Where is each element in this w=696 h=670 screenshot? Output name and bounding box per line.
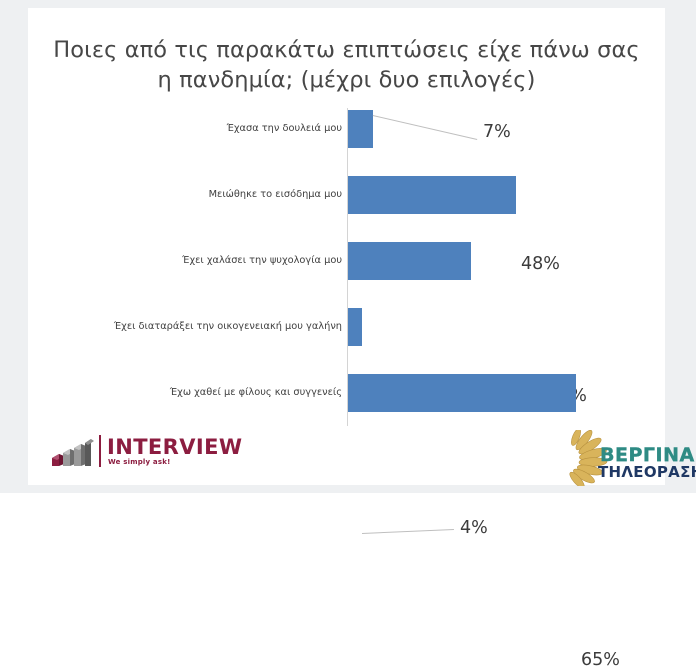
bar-row: Έχει χαλάσει την ψυχολογία μου35%: [28, 240, 665, 306]
logo-divider: [99, 435, 101, 467]
bar-chart-logo-icon: [50, 438, 94, 468]
bar-value-label: 65%: [581, 650, 620, 670]
slide-card: Ποιες από τις παρακάτω επιπτώσεις είχε π…: [28, 8, 665, 485]
bar-value-label: 7%: [483, 122, 511, 142]
vergina-name: ΒΕΡΓΙΝΑ: [600, 445, 695, 465]
bar-row: Έχασα την δουλειά μου7%: [28, 108, 665, 174]
bar-row: Έχει διαταράξει την οικογενειακή μου γαλ…: [28, 306, 665, 372]
bar-value-label: 4%: [460, 518, 488, 538]
category-label: Μειώθηκε το εισόδημα μου: [52, 189, 342, 201]
bar-chart: Έχασα την δουλειά μου7%Μειώθηκε το εισόδ…: [28, 104, 665, 434]
page-title: Ποιες από τις παρακάτω επιπτώσεις είχε π…: [28, 35, 665, 95]
vergina-tv-logo: ΒΕΡΓΙΝΑ ΤΗΛΕΟΡΑΣΗ: [548, 428, 693, 488]
category-label: Έχασα την δουλειά μου: [52, 123, 342, 135]
bar: [348, 176, 516, 214]
interview-tagline: We simply ask!: [108, 458, 170, 467]
bar: [348, 242, 471, 280]
title-line-1: Ποιες από τις παρακάτω επιπτώσεις είχε π…: [28, 35, 665, 65]
category-label: Έχει χαλάσει την ψυχολογία μου: [52, 255, 342, 267]
interview-wordmark: INTERVIEW: [107, 436, 242, 458]
value-leader-line: [373, 115, 477, 140]
title-line-2: η πανδημία; (μέχρι δυο επιλογές): [28, 65, 665, 95]
bar: [348, 308, 362, 346]
bar-row: Μειώθηκε το εισόδημα μου48%: [28, 174, 665, 240]
vergina-subtitle: ΤΗΛΕΟΡΑΣΗ: [598, 464, 696, 480]
bar: [348, 110, 373, 148]
interview-logo: INTERVIEW We simply ask!: [50, 432, 230, 476]
value-leader-line: [362, 529, 454, 534]
bar: [348, 374, 576, 412]
category-label: Έχω χαθεί με φίλους και συγγενείς: [52, 387, 342, 399]
category-label: Έχει διαταράξει την οικογενειακή μου γαλ…: [52, 321, 342, 333]
slide-screenshot: Ποιες από τις παρακάτω επιπτώσεις είχε π…: [0, 0, 696, 493]
